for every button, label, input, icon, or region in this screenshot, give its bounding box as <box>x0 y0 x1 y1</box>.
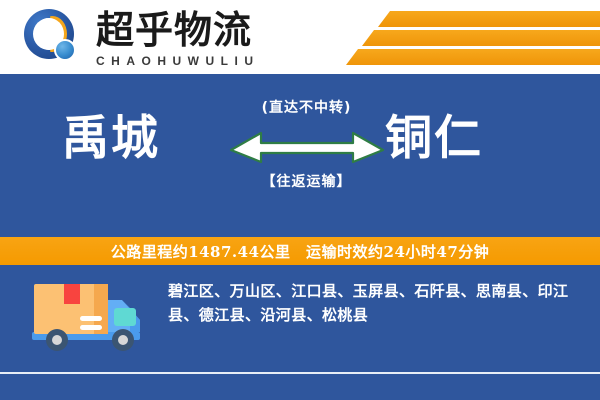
truck-hub-front <box>118 335 128 345</box>
coverage-section: 碧江区、万山区、江口县、玉屏县、石阡县、思南县、印江县、德江县、沿河县、松桃县 <box>0 268 600 400</box>
arrow-shape <box>231 133 383 162</box>
delivery-truck-svg <box>28 278 146 354</box>
route-section: 禹城 (直达不中转) 【往返运输】 铜仁 <box>0 74 600 234</box>
header: 超乎物流 CHAOHUWULIU <box>0 0 600 74</box>
distance-duration-text: 公路里程约1487.44公里 运输时效约24小时47分钟 <box>111 241 490 262</box>
bidirectional-arrow-icon <box>227 122 387 166</box>
truck-hub-rear <box>52 335 62 345</box>
decorative-stripes <box>300 0 600 74</box>
direct-shipping-note: (直达不中转) <box>224 98 389 118</box>
brand-name-en: CHAOHUWULIU <box>96 54 260 68</box>
logo-dot <box>54 39 76 61</box>
round-trip-note: 【往返运输】 <box>224 172 389 192</box>
info-bar: 公路里程约1487.44公里 运输时效约24小时47分钟 <box>0 234 600 268</box>
stripe-3 <box>346 49 600 65</box>
route-middle: (直达不中转) 【往返运输】 <box>224 98 389 216</box>
truck-line-2 <box>80 325 102 330</box>
brand-name-cn: 超乎物流 <box>96 8 260 52</box>
truck-window <box>114 308 136 326</box>
stripe-2 <box>362 30 600 46</box>
double-headed-arrow-svg <box>227 122 387 166</box>
truck-label <box>64 284 80 304</box>
truck-line-1 <box>80 316 102 321</box>
coverage-areas-text: 碧江区、万山区、江口县、玉屏县、石阡县、思南县、印江县、德江县、沿河县、松桃县 <box>168 279 580 327</box>
origin-city: 禹城 <box>62 110 160 168</box>
stripe-1 <box>378 11 600 27</box>
delivery-truck-icon <box>28 278 146 354</box>
bottom-divider <box>0 372 600 374</box>
company-logo-icon <box>24 9 82 67</box>
info-bar-inner: 公路里程约1487.44公里 运输时效约24小时47分钟 <box>0 237 600 265</box>
brand-block: 超乎物流 CHAOHUWULIU <box>96 8 260 68</box>
logistics-route-banner: 超乎物流 CHAOHUWULIU 禹城 (直达不中转) 【往返运输】 铜仁 公路… <box>0 0 600 400</box>
destination-city: 铜仁 <box>385 110 483 168</box>
